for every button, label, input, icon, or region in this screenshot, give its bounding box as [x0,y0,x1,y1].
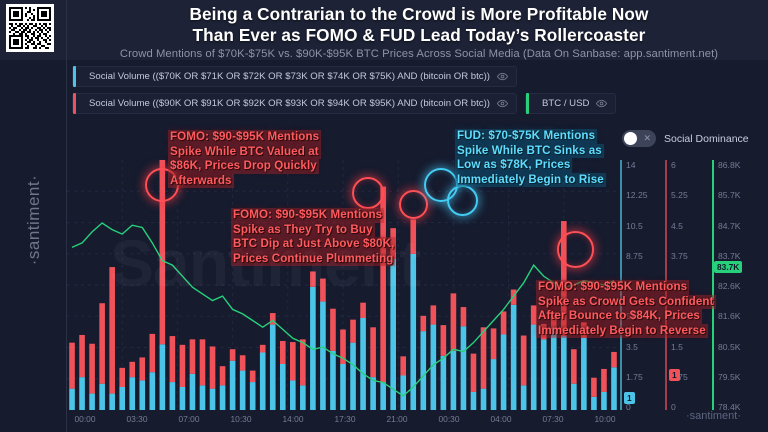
bar-social-volume-70-75k[interactable] [170,382,176,410]
bar-social-volume-70-75k[interactable] [370,377,376,410]
annotation-line: FOMO: $90-$95K Mentions [536,280,689,295]
y-axis-tick: 5.25 [671,190,688,200]
bar-social-volume-70-75k[interactable] [300,385,306,410]
annotation-line: Low as $78K, Prices [455,158,572,173]
bar-social-volume-90-95k[interactable] [471,354,477,392]
annotation-line: Immediately Begin to Rise [455,173,606,188]
legend-item-btc-usd[interactable]: BTC / USD [525,93,616,114]
x-axis-tick: 07:30 [543,414,564,424]
bar-social-volume-70-75k[interactable] [89,394,95,410]
bar-social-volume-70-75k[interactable] [260,353,266,411]
page-subtitle: Crowd Mentions of $70K-$75K vs. $90K-$95… [70,48,768,60]
anno-fomo-80k: FOMO: $90-$95K MentionsSpike as They Try… [231,208,396,266]
bar-social-volume-90-95k[interactable] [360,303,366,318]
y-axis-tick: 79.5K [718,372,740,382]
y-axis-btc-usd: 86.8K85.7K84.7K83.7K82.6K81.6K80.5K79.5K… [718,160,764,410]
annotation-line: FOMO: $90-$95K Mentions [231,208,384,223]
bar-social-volume-70-75k[interactable] [420,331,426,410]
x-axis-tick: 00:30 [439,414,460,424]
y-axis-tick: 14 [626,160,636,170]
bar-social-volume-70-75k[interactable] [200,385,206,410]
bar-social-volume-90-95k[interactable] [420,316,426,331]
bar-social-volume-70-75k[interactable] [461,326,467,410]
legend-label: BTC / USD [536,98,589,109]
highlight-ring-fud-78k-b [447,185,478,216]
y-axis-tick: 83.7K [718,251,740,261]
bar-social-volume-70-75k[interactable] [180,387,186,410]
bar-social-volume-70-75k[interactable] [521,385,527,410]
legend-swatch-red [73,93,76,114]
value-badge-cyan: 1 [624,392,635,404]
bar-social-volume-90-95k[interactable] [290,342,296,380]
bar-social-volume-70-75k[interactable] [360,318,366,410]
bar-social-volume-90-95k[interactable] [400,356,406,375]
bar-social-volume-70-75k[interactable] [69,389,75,410]
bar-social-volume-90-95k[interactable] [350,320,356,343]
annotation-line: After Bounce to $84K, Prices [536,309,702,324]
bar-social-volume-70-75k[interactable] [471,392,477,410]
x-axis-tick: 10:00 [595,414,616,424]
bar-social-volume-90-95k[interactable] [431,305,437,324]
y-axis-tick: 80.5K [718,342,740,352]
bar-social-volume-90-95k[interactable] [451,293,457,351]
annotation-line: Immediately Begin to Reverse [536,324,708,339]
bar-social-volume-90-95k[interactable] [481,327,487,388]
annotation-line: FOMO: $90-$95K Mentions [168,130,321,145]
legend-swatch-cyan [73,66,76,87]
bar-social-volume-90-95k[interactable] [250,371,256,383]
anno-fud-78k: FUD: $70-$75K MentionsSpike While BTC Si… [455,129,606,187]
title-line-2: Than Ever as FOMO & FUD Lead Today’s Rol… [70,25,768,46]
bar-social-volume-70-75k[interactable] [250,382,256,410]
close-x-icon: ✕ [643,132,651,145]
bar-social-volume-70-75k[interactable] [481,389,487,410]
bar-social-volume-90-95k[interactable] [89,344,95,394]
highlight-ring-fomo-80k-a [352,177,384,209]
bar-social-volume-70-75k[interactable] [551,328,557,410]
bar-social-volume-90-95k[interactable] [260,345,266,353]
y-axis-tick: 8.75 [626,251,643,261]
bar-social-volume-70-75k[interactable] [109,394,115,410]
bar-social-volume-70-75k[interactable] [150,372,156,410]
annotation-line: Spike While BTC Valued at [168,145,321,160]
legend-row-2: Social Volume (($90K OR $91K OR $92K OR … [72,93,768,114]
social-dominance-control[interactable]: ✕ Social Dominance [622,130,749,147]
bar-social-volume-70-75k[interactable] [190,374,196,410]
x-axis: 00:0003:3007:0010:3014:0017:3021:0000:30… [67,414,627,428]
bar-social-volume-70-75k[interactable] [119,387,125,410]
left-rail: ·santiment· [0,60,66,432]
bar-social-volume-90-95k[interactable] [99,303,105,384]
y-axis-tick: 6 [671,160,676,170]
bar-social-volume-90-95k[interactable] [210,346,216,388]
y-axis-tick: 84.7K [718,221,740,231]
y-axis-tick: 1.75 [626,372,643,382]
bar-social-volume-70-75k[interactable] [240,371,246,410]
bar-social-volume-70-75k[interactable] [230,361,236,410]
annotation-line: $86K, Prices Drop Quickly [168,159,319,174]
bar-social-volume-90-95k[interactable] [150,334,156,372]
bar-social-volume-90-95k[interactable] [320,279,326,302]
bar-social-volume-90-95k[interactable] [129,362,135,377]
value-badge-green: 83.7K [714,261,742,273]
bar-social-volume-90-95k[interactable] [69,343,75,389]
bar-social-volume-70-75k[interactable] [400,376,406,411]
y-axis-tick: 85.7K [718,190,740,200]
y-axis-tick: 0 [671,402,676,412]
bar-social-volume-90-95k[interactable] [310,271,316,286]
social-dominance-label: Social Dominance [664,133,749,145]
legend-row-1: Social Volume (($70K OR $71K OR $72K OR … [72,66,768,87]
annotation-line: Spike as They Try to Buy [231,223,375,238]
bar-social-volume-70-75k[interactable] [330,351,336,410]
highlight-ring-fomo-84k [557,231,594,268]
legend-item-social-volume-90-95k[interactable]: Social Volume (($90K OR $91K OR $92K OR … [72,93,517,114]
bar-social-volume-90-95k[interactable] [170,336,176,382]
bar-social-volume-90-95k[interactable] [370,327,376,377]
annotation-line: FUD: $70-$75K Mentions [455,129,597,144]
bar-social-volume-70-75k[interactable] [129,377,135,410]
bar-social-volume-90-95k[interactable] [79,335,85,377]
toggle-knob [624,132,637,145]
y-axis-tick: 3.75 [671,251,688,261]
legend-label: Social Volume (($70K OR $71K OR $72K OR … [83,71,490,82]
bar-social-volume-90-95k[interactable] [190,339,196,374]
header-bar: Being a Contrarian to the Crowd is More … [0,0,768,60]
bar-social-volume-90-95k[interactable] [109,267,115,394]
annotation-line: Afterwards [168,174,234,189]
y-axis-tick: 4.5 [671,221,683,231]
y-axis-tick: 12.25 [626,190,648,200]
eye-icon[interactable] [596,98,607,109]
y-axis-tick: 82.6K [718,281,740,291]
chart-legend: Social Volume (($70K OR $71K OR $72K OR … [72,66,768,120]
bar-social-volume-90-95k[interactable] [230,349,236,361]
anno-fomo-84k: FOMO: $90-$95K MentionsSpike as Crowd Ge… [536,280,716,338]
bar-social-volume-70-75k[interactable] [571,384,577,410]
bar-social-volume-70-75k[interactable] [320,302,326,410]
value-badge-red: 1 [669,369,680,381]
y-axis-tick: 10.5 [626,221,643,231]
y-axis-tick: 1.5 [671,342,683,352]
x-axis-tick: 10:30 [231,414,252,424]
bar-social-volume-90-95k[interactable] [501,311,507,334]
bar-social-volume-90-95k[interactable] [571,349,577,384]
bar-social-volume-70-75k[interactable] [340,364,346,410]
bar-social-volume-70-75k[interactable] [380,382,386,410]
annotation-line: Prices Continue Plummeting [231,252,395,267]
bar-social-volume-70-75k[interactable] [451,351,457,410]
annotation-line: Spike as Crowd Gets Confident [536,295,716,310]
annotation-line: Spike While BTC Sinks as [455,144,604,159]
page-title: Being a Contrarian to the Crowd is More … [70,4,768,46]
bar-social-volume-70-75k[interactable] [511,305,517,410]
bar-social-volume-70-75k[interactable] [561,336,567,410]
bar-social-volume-70-75k[interactable] [270,325,276,410]
x-axis-tick: 07:00 [179,414,200,424]
bar-social-volume-90-95k[interactable] [220,366,226,385]
bar-social-volume-90-95k[interactable] [200,339,206,385]
x-axis-tick: 21:00 [387,414,408,424]
watermark-bottom: ·santiment· [686,410,741,422]
bar-social-volume-90-95k[interactable] [330,309,336,351]
anno-fomo-86k: FOMO: $90-$95K MentionsSpike While BTC V… [168,130,321,188]
bar-social-volume-70-75k[interactable] [491,359,497,410]
bar-social-volume-90-95k[interactable] [441,325,447,356]
legend-item-social-volume-70-75k[interactable]: Social Volume (($70K OR $71K OR $72K OR … [72,66,517,87]
bar-social-volume-90-95k[interactable] [611,352,617,367]
bar-social-volume-70-75k[interactable] [160,344,166,410]
bar-social-volume-70-75k[interactable] [280,364,286,410]
eye-icon[interactable] [497,98,508,109]
bar-social-volume-70-75k[interactable] [99,384,105,410]
bar-social-volume-90-95k[interactable] [410,219,416,254]
bar-social-volume-70-75k[interactable] [139,380,145,410]
bar-social-volume-70-75k[interactable] [220,385,226,410]
bar-social-volume-90-95k[interactable] [280,341,286,364]
y-axis-tick: 86.8K [718,160,740,170]
eye-icon[interactable] [497,71,508,82]
qr-code-icon[interactable] [6,4,54,52]
bar-social-volume-90-95k[interactable] [180,345,186,387]
bar-social-volume-90-95k[interactable] [491,328,497,359]
bar-social-volume-90-95k[interactable] [601,369,607,392]
santiment-brand-label: ·santiment· [24,150,44,290]
bar-social-volume-70-75k[interactable] [601,392,607,410]
bar-social-volume-90-95k[interactable] [240,355,246,370]
bar-social-volume-70-75k[interactable] [290,380,296,410]
title-line-1: Being a Contrarian to the Crowd is More … [70,4,768,25]
bar-social-volume-90-95k[interactable] [521,336,527,386]
x-axis-tick: 17:30 [335,414,356,424]
annotation-line: BTC Dip at Just Above $80K, [231,237,396,252]
bar-social-volume-70-75k[interactable] [441,356,447,410]
bar-social-volume-70-75k[interactable] [210,389,216,410]
y-axis-tick: 81.6K [718,311,740,321]
bar-social-volume-70-75k[interactable] [541,339,547,410]
bar-social-volume-90-95k[interactable] [300,339,306,385]
x-axis-tick: 04:00 [491,414,512,424]
bar-social-volume-90-95k[interactable] [119,368,125,387]
highlight-ring-fomo-80k-b [399,190,428,219]
bar-social-volume-90-95k[interactable] [591,378,597,397]
y-axis-tick: 3.5 [626,342,638,352]
bar-social-volume-90-95k[interactable] [461,307,467,326]
x-axis-tick: 14:00 [283,414,304,424]
bar-social-volume-70-75k[interactable] [501,334,507,410]
social-dominance-toggle[interactable]: ✕ [622,130,656,147]
bar-social-volume-70-75k[interactable] [350,343,356,410]
bar-social-volume-70-75k[interactable] [581,338,587,410]
legend-swatch-green [526,93,529,114]
bar-social-volume-70-75k[interactable] [591,397,597,410]
bar-social-volume-90-95k[interactable] [139,357,145,380]
x-axis-tick: 00:00 [75,414,96,424]
bar-social-volume-70-75k[interactable] [79,377,85,410]
x-axis-tick: 03:30 [127,414,148,424]
legend-label: Social Volume (($90K OR $91K OR $92K OR … [83,98,490,109]
bar-social-volume-70-75k[interactable] [611,367,617,410]
